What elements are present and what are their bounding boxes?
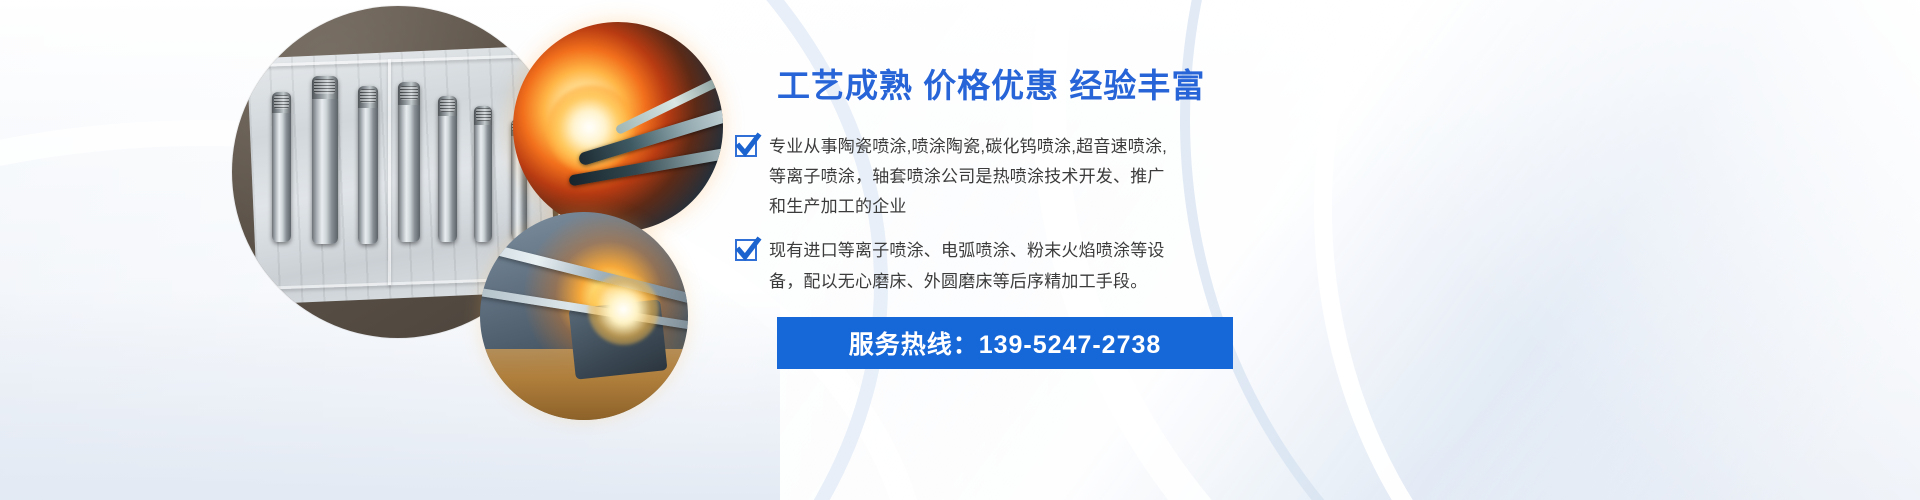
spark-glow — [588, 274, 659, 345]
feature-item-2-text: 现有进口等离子喷涂、电弧喷涂、粉末火焰喷涂等设 备，配以无心磨床、外圆磨床等后序… — [769, 236, 1165, 297]
rod-3 — [358, 86, 378, 244]
feature-list: 专业从事陶瓷喷涂,喷涂陶瓷,碳化钨喷涂,超音速喷涂, 等离子喷涂，轴套喷涂公司是… — [735, 132, 1355, 297]
feature-line: 备，配以无心磨床、外圆磨床等后序精加工手段。 — [769, 272, 1147, 291]
check-box-icon — [735, 239, 757, 261]
welding-photo — [480, 212, 688, 420]
banner-content: 工艺成熟 价格优惠 经验丰富 专业从事陶瓷喷涂,喷涂陶瓷,碳化钨喷涂,超音速喷涂… — [735, 66, 1355, 369]
photo-cluster — [232, 0, 702, 420]
hotline-text: 服务热线：139-5247-2738 — [849, 325, 1162, 361]
rod-1 — [272, 92, 291, 242]
feature-item-2: 现有进口等离子喷涂、电弧喷涂、粉末火焰喷涂等设 备，配以无心磨床、外圆磨床等后序… — [735, 236, 1355, 297]
hotline-banner[interactable]: 服务热线：139-5247-2738 — [777, 317, 1233, 369]
promo-banner: 工艺成熟 价格优惠 经验丰富 专业从事陶瓷喷涂,喷涂陶瓷,碳化钨喷涂,超音速喷涂… — [0, 0, 1920, 500]
feature-line: 和生产加工的企业 — [769, 197, 907, 216]
flame-spray-photo — [513, 22, 723, 232]
rod-5 — [438, 96, 457, 242]
feature-line: 专业从事陶瓷喷涂,喷涂陶瓷,碳化钨喷涂,超音速喷涂, — [769, 137, 1167, 156]
rod-2 — [312, 76, 338, 244]
feature-line: 现有进口等离子喷涂、电弧喷涂、粉末火焰喷涂等设 — [769, 241, 1165, 260]
cloth-fold — [388, 59, 391, 285]
headline: 工艺成熟 价格优惠 经验丰富 — [777, 66, 1355, 106]
background-right-glow — [1360, 0, 1920, 500]
rod-4 — [398, 82, 420, 242]
check-box-icon — [735, 135, 757, 157]
feature-item-1: 专业从事陶瓷喷涂,喷涂陶瓷,碳化钨喷涂,超音速喷涂, 等离子喷涂，轴套喷涂公司是… — [735, 132, 1355, 223]
feature-item-1-text: 专业从事陶瓷喷涂,喷涂陶瓷,碳化钨喷涂,超音速喷涂, 等离子喷涂，轴套喷涂公司是… — [769, 132, 1167, 223]
feature-line: 等离子喷涂，轴套喷涂公司是热喷涂技术开发、推广 — [769, 167, 1165, 186]
rod-6 — [474, 106, 492, 242]
